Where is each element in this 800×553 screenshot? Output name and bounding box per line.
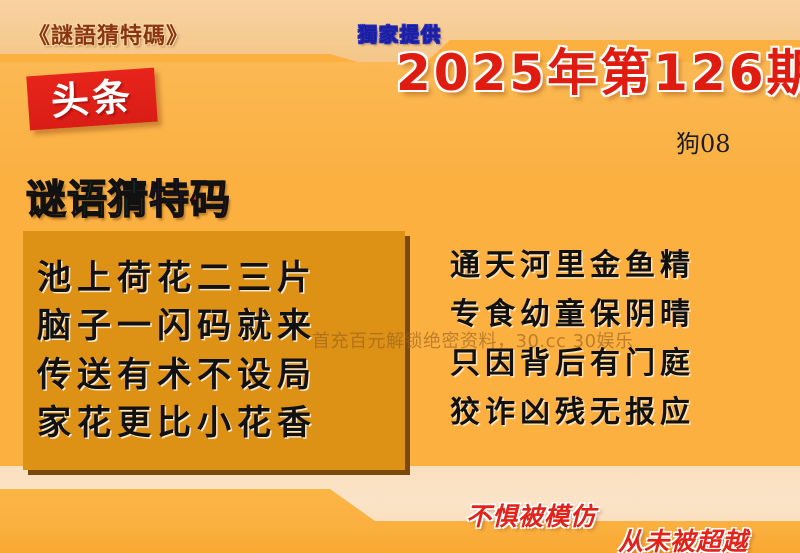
colorful-subtitle-char: 猜 (108, 180, 149, 220)
slogan-left: 不惧被模仿 (466, 497, 596, 533)
poem-line: 只因背后有门庭 (450, 340, 790, 389)
exclusive-provider-label: 獨家提供 (358, 20, 442, 47)
traditional-title: 《謎語猜特碼》 (28, 18, 189, 50)
riddle-line: 脑子一闪码就来 (37, 302, 391, 350)
issue-number-label: 2025年第126期 (396, 48, 800, 98)
headline-badge-label: 头条 (50, 77, 134, 121)
colorful-subtitle-char: 码 (190, 180, 231, 220)
colorful-subtitle-char: 特 (149, 180, 190, 220)
riddle-line: 传送有术不设局 (37, 351, 391, 399)
headline-badge: 头条 (26, 68, 157, 131)
zodiac-code-label: 狗08 (676, 124, 731, 159)
poster-root: 《謎語猜特碼》 头条 獨家提供 2025年第126期 狗08 谜语猜特码 池上荷… (0, 0, 800, 553)
riddle-line: 池上荷花二三片 (37, 254, 391, 302)
riddle-line: 家花更比小花香 (37, 399, 391, 447)
poem-block: 通天河里金鱼精 专食幼童保阴晴 只因背后有门庭 狡诈凶残无报应 (450, 242, 790, 438)
poem-line: 专食幼童保阴晴 (450, 291, 790, 340)
colorful-subtitle: 谜语猜特码 (26, 180, 231, 220)
riddle-box: 池上荷花二三片 脑子一闪码就来 传送有术不设局 家花更比小花香 (23, 231, 405, 470)
slogan-right: 从未被超越 (618, 522, 748, 553)
colorful-subtitle-char: 谜 (26, 180, 67, 220)
poem-line: 通天河里金鱼精 (450, 242, 790, 291)
poem-line: 狡诈凶残无报应 (450, 389, 790, 438)
colorful-subtitle-char: 语 (67, 180, 108, 220)
